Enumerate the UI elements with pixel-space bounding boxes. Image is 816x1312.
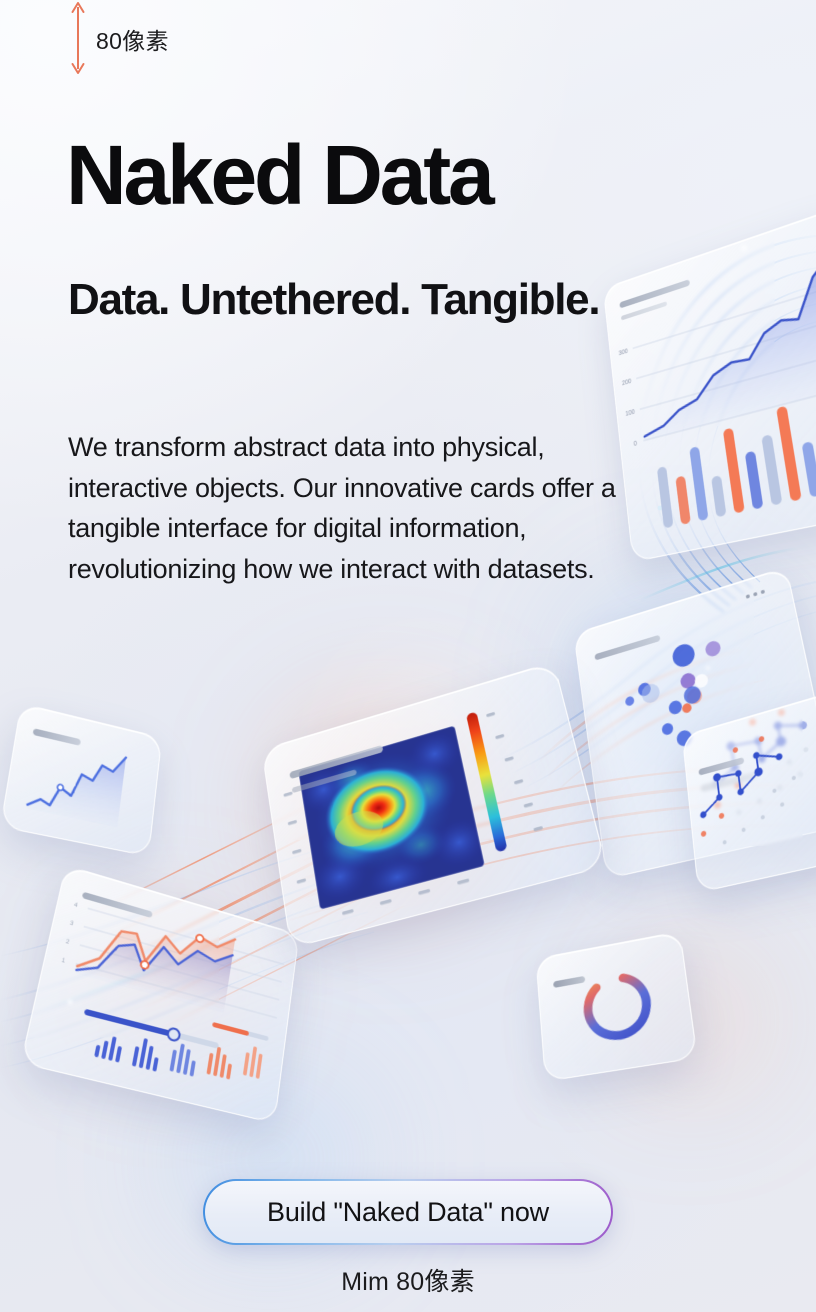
page-title: Naked Data: [66, 134, 492, 216]
donut-chart: [536, 932, 696, 1081]
cta-caption: Mim 80像素: [0, 1262, 816, 1298]
svg-text:100: 100: [625, 408, 636, 418]
svg-text:1: 1: [61, 958, 66, 965]
card-mini-area: [0, 703, 162, 857]
heatmap-chart: [262, 662, 605, 947]
svg-text:2: 2: [65, 939, 70, 946]
svg-text:0: 0: [633, 440, 637, 448]
double-arrow-vertical-icon: [68, 0, 88, 76]
hero-stage: 300200 1000: [0, 0, 816, 1312]
svg-text:4: 4: [73, 902, 78, 909]
page-body-text: We transform abstract data into physical…: [68, 427, 620, 589]
card-dual-line: 43 21: [20, 865, 299, 1124]
cta-button-border: Build "Naked Data" now: [203, 1179, 613, 1245]
line-bar-chart: 300200 1000: [604, 207, 816, 561]
card-donut: [535, 931, 697, 1082]
svg-text:200: 200: [622, 378, 632, 388]
card-heatmap: [261, 661, 607, 948]
dual-line-chart: 43 21: [21, 866, 298, 1123]
mini-area-chart: [1, 704, 161, 856]
card-line-bar: 300200 1000: [603, 206, 816, 562]
build-naked-data-button[interactable]: Build "Naked Data" now: [205, 1181, 611, 1243]
annotation-label: 80像素: [96, 22, 169, 56]
svg-text:300: 300: [618, 348, 628, 358]
page-subtitle: Data. Untethered. Tangible.: [68, 275, 648, 325]
svg-text:3: 3: [69, 921, 74, 928]
